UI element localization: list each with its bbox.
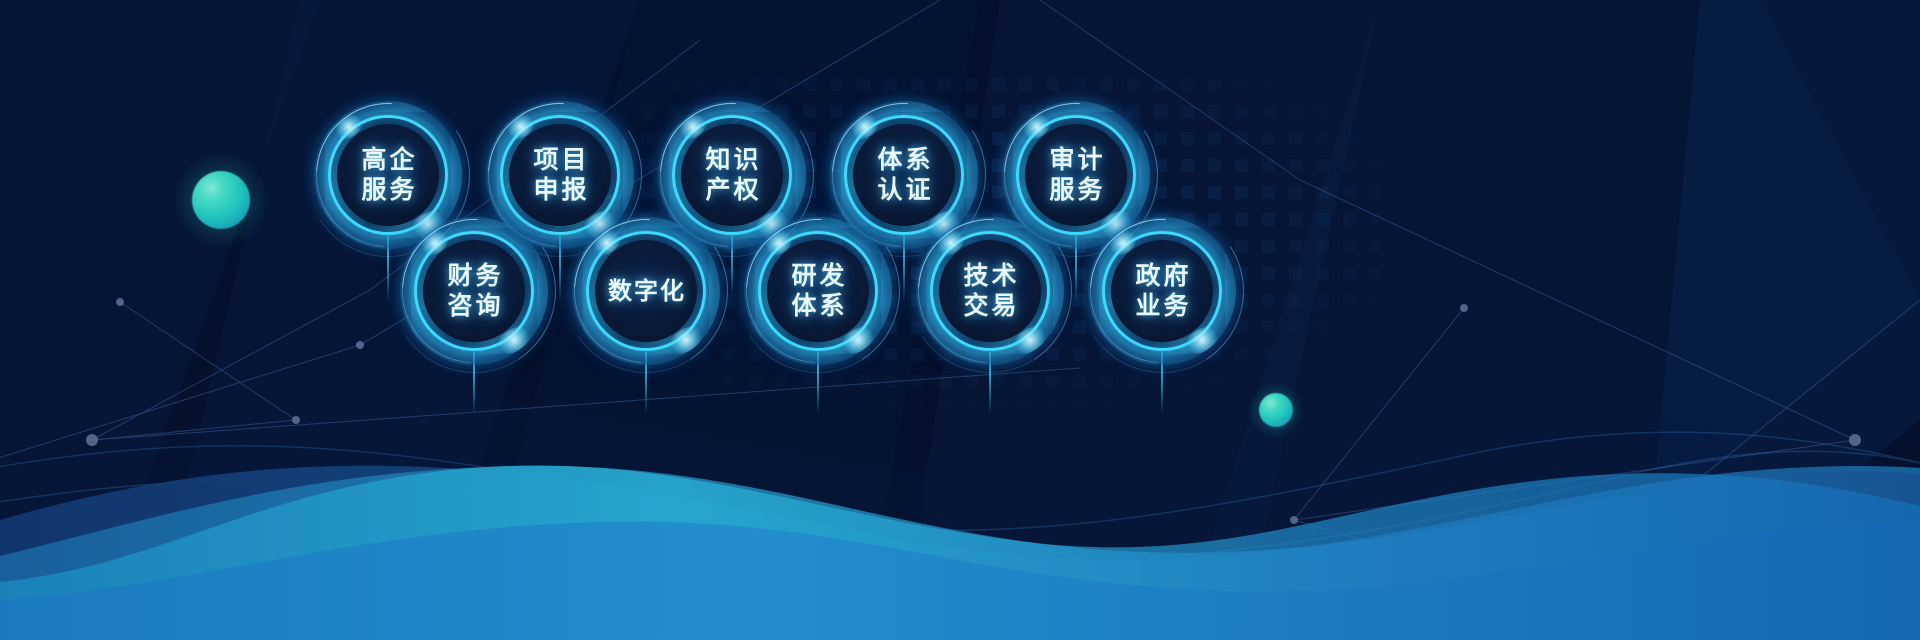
orb-label-line1: 数字化 bbox=[606, 277, 686, 306]
orb-label-line1: 审计 bbox=[1046, 146, 1105, 175]
banner-stage: 高企 服务 项目 申报 知识 产权 bbox=[0, 0, 1920, 640]
service-node-jishujiaoyi[interactable]: 技术 交易 bbox=[928, 229, 1052, 353]
orb-label-disc: 财务 咨询 bbox=[423, 240, 525, 342]
orb-label-disc: 体系 认证 bbox=[853, 124, 955, 226]
orb-label-line2: 服务 bbox=[1046, 176, 1105, 205]
orb-label-disc: 项目 申报 bbox=[509, 124, 611, 226]
orb-label-line1: 财务 bbox=[444, 262, 503, 291]
orb-label-line2: 认证 bbox=[874, 176, 933, 205]
service-node-xiangmushenbao[interactable]: 项目 申报 bbox=[498, 113, 622, 237]
orb-label-line2: 申报 bbox=[530, 176, 589, 205]
orb-label-line2: 服务 bbox=[358, 176, 417, 205]
orb-label-disc: 知识 产权 bbox=[681, 124, 783, 226]
orb-label-disc: 研发 体系 bbox=[767, 240, 869, 342]
orb-label-line1: 研发 bbox=[788, 262, 847, 291]
service-node-shuzihua[interactable]: 数字化 bbox=[584, 229, 708, 353]
orb-label-disc: 政府 业务 bbox=[1111, 240, 1213, 342]
service-node-tixirenzheng[interactable]: 体系 认证 bbox=[842, 113, 966, 237]
orb-label-line2: 体系 bbox=[788, 292, 847, 321]
orb-label-line2: 业务 bbox=[1132, 292, 1191, 321]
orb-label-disc: 审计 服务 bbox=[1025, 124, 1127, 226]
orb-label-line2: 产权 bbox=[702, 176, 761, 205]
orb-label-line2: 咨询 bbox=[444, 292, 503, 321]
orb-label-line2: 交易 bbox=[960, 292, 1019, 321]
orb-label-disc: 高企 服务 bbox=[337, 124, 439, 226]
orb-label-line1: 项目 bbox=[530, 146, 589, 175]
service-node-yanfatixi[interactable]: 研发 体系 bbox=[756, 229, 880, 353]
orb-label-line1: 政府 bbox=[1132, 262, 1191, 291]
orb-label-line1: 体系 bbox=[874, 146, 933, 175]
orb-label-disc: 数字化 bbox=[595, 240, 697, 342]
orb-label-line1: 高企 bbox=[358, 146, 417, 175]
service-node-zhishichanquan[interactable]: 知识 产权 bbox=[670, 113, 794, 237]
orb-label-line1: 技术 bbox=[960, 262, 1019, 291]
service-node-shenjifuwu[interactable]: 审计 服务 bbox=[1014, 113, 1138, 237]
service-node-gaoqifuwu[interactable]: 高企 服务 bbox=[326, 113, 450, 237]
orb-label-disc: 技术 交易 bbox=[939, 240, 1041, 342]
service-node-caiwuzixun[interactable]: 财务 咨询 bbox=[412, 229, 536, 353]
service-node-zhengfuyewu[interactable]: 政府 业务 bbox=[1100, 229, 1224, 353]
orb-label-line1: 知识 bbox=[702, 146, 761, 175]
